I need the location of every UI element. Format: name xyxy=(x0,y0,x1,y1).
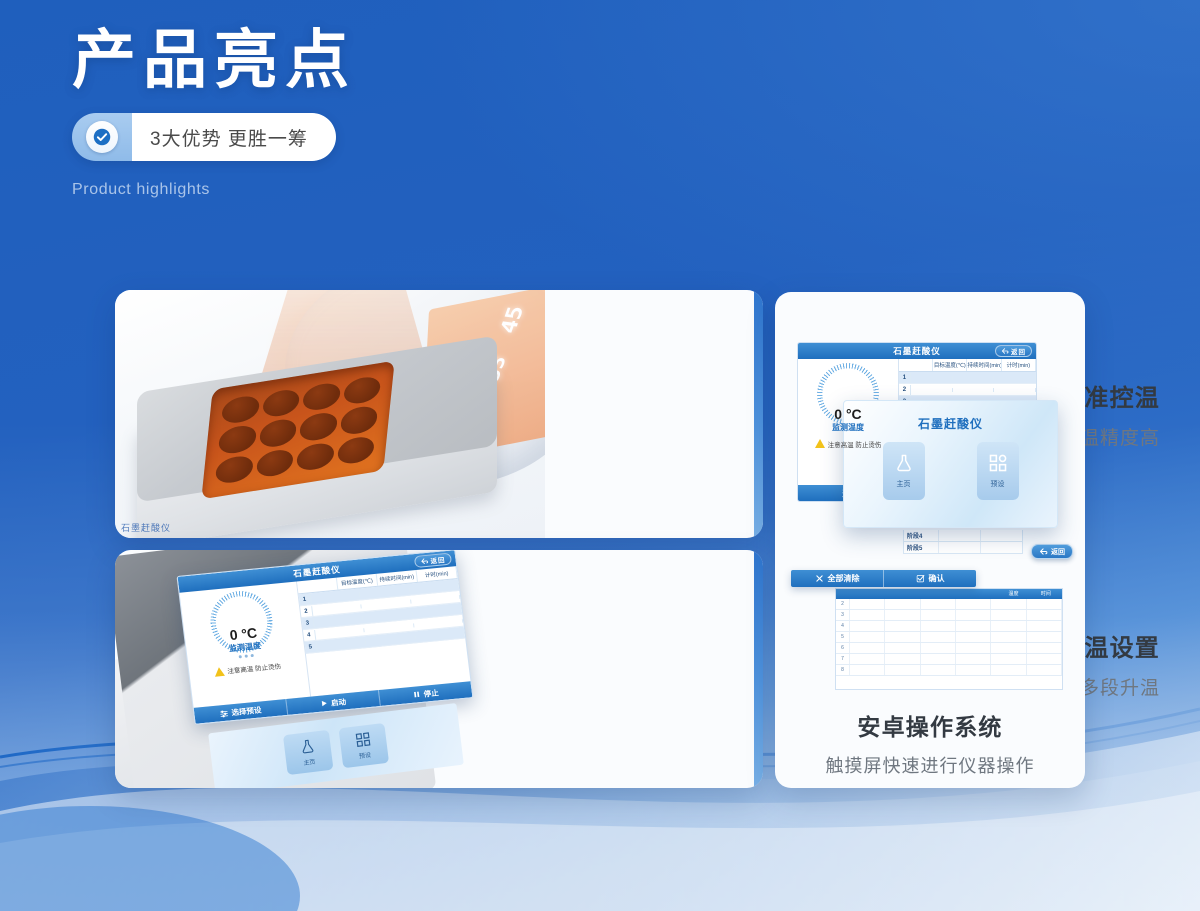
well xyxy=(302,381,341,413)
dialog-tile-home-label: 主页 xyxy=(897,479,911,489)
flask-icon xyxy=(894,453,914,473)
gauge-dots xyxy=(238,654,253,658)
gt-col-blank xyxy=(965,589,997,599)
warning-row: 注意高温 防止烫伤 xyxy=(815,439,882,449)
back-button[interactable]: 返回 xyxy=(414,553,452,568)
row-index: 2 xyxy=(899,385,911,395)
dialog-tile-home[interactable]: 主页 xyxy=(883,442,925,500)
screen-title: 石墨赶酸仪 xyxy=(893,345,941,357)
preset-stage-row[interactable]: 阶段5 xyxy=(903,542,1023,554)
temperature-gauge: 0 °C 监测温度 注意高温 防止烫伤 xyxy=(180,582,310,708)
grid-table-header: 温度 时间 xyxy=(836,589,1062,599)
gauge-value: 0 °C xyxy=(834,406,861,422)
grid-icon xyxy=(354,731,372,749)
warning-triangle-icon xyxy=(214,666,225,676)
preset-tile-home[interactable]: 主页 xyxy=(283,730,334,775)
col-duration: 持续时间(min) xyxy=(967,359,1001,371)
gauge-label: 监测温度 xyxy=(228,640,261,654)
table-row[interactable]: 7 xyxy=(836,654,1062,665)
gt-col-blank xyxy=(901,589,933,599)
warning-text: 注意高温 防止烫伤 xyxy=(828,439,882,449)
well xyxy=(342,375,381,407)
checkbox-icon xyxy=(916,574,925,583)
row-index: 3 xyxy=(836,610,850,620)
segment-table: 目标温度(℃) 持续时间(min) 计时(min) 1 2 3 4 5 xyxy=(296,566,471,697)
caption-title: 安卓操作系统 xyxy=(775,708,1085,742)
col-timer: 计时(min) xyxy=(1002,359,1036,371)
photo-brand-label: 石墨赶酸仪 xyxy=(121,521,171,534)
clear-all-button[interactable]: 全部清除 xyxy=(791,570,884,587)
warning-text: 注意高温 防止烫伤 xyxy=(227,660,282,675)
grid-icon xyxy=(988,453,1008,473)
row-index: 5 xyxy=(304,641,317,652)
preset-back-label: 返回 xyxy=(1051,547,1065,557)
back-label: 返回 xyxy=(1011,346,1026,356)
well xyxy=(255,447,294,479)
well xyxy=(339,405,378,437)
gt-col-time: 时间 xyxy=(1030,589,1062,599)
row-index: 4 xyxy=(836,621,850,631)
well xyxy=(215,454,254,486)
well xyxy=(336,434,375,466)
gauge-label: 监测温度 xyxy=(832,422,864,433)
page-header: 产品亮点 3大优势 更胜一筹 Product highlights xyxy=(72,26,672,199)
well xyxy=(218,424,257,456)
stage-label: 阶段4 xyxy=(904,531,938,540)
dialog-tiles: 主页 预设 xyxy=(883,442,1019,500)
well xyxy=(221,394,260,426)
table-row[interactable]: 3 xyxy=(836,610,1062,621)
back-label: 返回 xyxy=(430,554,446,565)
check-circle-icon xyxy=(86,121,118,153)
row-index: 7 xyxy=(836,654,850,664)
display-value-a: 45 xyxy=(496,305,529,335)
row-index: 1 xyxy=(899,373,911,383)
back-arrow-icon xyxy=(420,557,429,566)
preset-action-bar: 全部清除 确认 xyxy=(791,570,976,587)
table-row[interactable]: 2 xyxy=(899,384,1036,396)
table-row[interactable]: 5 xyxy=(836,632,1062,643)
dialog-title: 石墨赶酸仪 xyxy=(918,415,983,432)
badge-check-wrap xyxy=(72,113,132,161)
card-pid-temperature-control[interactable]: 45 53 石墨赶酸仪 xyxy=(115,290,763,538)
preset-grid-table: 温度 时间 2 3 4 5 6 7 8 xyxy=(835,588,1063,690)
gt-col-temp: 温度 xyxy=(997,589,1029,599)
page-subtitle-en: Product highlights xyxy=(72,181,672,199)
preset-tile-presets[interactable]: 预设 xyxy=(339,723,390,768)
dialog-tile-presets-label: 预设 xyxy=(991,479,1005,489)
badge-label: 3大优势 更胜一筹 xyxy=(132,113,336,161)
table-row[interactable]: 8 xyxy=(836,665,1062,676)
well xyxy=(296,441,335,473)
select-preset-label: 选择预设 xyxy=(231,704,262,718)
table-row[interactable]: 4 xyxy=(836,621,1062,632)
segment-table-header: 目标温度(℃) 持续时间(min) 计时(min) xyxy=(899,359,1036,372)
card-segmented-control[interactable]: 石墨赶酸仪 返回 0 °C 监测温度 注意高温 防止烫伤 xyxy=(115,550,763,788)
table-row[interactable]: 2 xyxy=(836,599,1062,610)
row-index: 2 xyxy=(836,599,850,609)
well xyxy=(261,388,300,420)
gt-col-blank xyxy=(836,589,868,599)
device-screen-main[interactable]: 石墨赶酸仪 返回 0 °C 监测温度 注意高温 防止烫伤 xyxy=(176,550,473,725)
card-accent-bar xyxy=(754,550,763,788)
back-arrow-icon xyxy=(1001,347,1009,355)
row-index: 6 xyxy=(836,643,850,653)
row-index: 1 xyxy=(298,594,311,605)
preset-stage-row[interactable]: 阶段4 xyxy=(903,530,1023,542)
advantages-badge: 3大优势 更胜一筹 xyxy=(72,113,336,161)
well xyxy=(258,417,297,449)
confirm-label: 确认 xyxy=(929,573,945,584)
sliders-icon xyxy=(219,708,229,718)
back-arrow-icon xyxy=(1039,547,1048,556)
preset-stage-rows: 阶段4 阶段5 xyxy=(903,530,1023,554)
table-row[interactable]: 1 xyxy=(899,372,1036,384)
caption-subtitle: 触摸屏快速进行仪器操作 xyxy=(775,752,1085,778)
clear-all-label: 全部清除 xyxy=(828,573,860,584)
preset-back-button[interactable]: 返回 xyxy=(1031,544,1073,559)
flask-icon xyxy=(299,738,317,756)
gt-col-blank xyxy=(933,589,965,599)
dialog-tile-presets[interactable]: 预设 xyxy=(977,442,1019,500)
warning-triangle-icon xyxy=(815,439,825,448)
screen-titlebar: 石墨赶酸仪 返回 xyxy=(798,343,1036,359)
well xyxy=(299,411,338,443)
row-index: 3 xyxy=(301,618,314,629)
screen-title: 石墨赶酸仪 xyxy=(293,563,342,579)
warning-row: 注意高温 防止烫伤 xyxy=(214,660,282,676)
pause-icon xyxy=(412,690,421,699)
preset-tile-home-label: 主页 xyxy=(303,757,316,767)
caption-android: 安卓操作系统 触摸屏快速进行仪器操作 xyxy=(775,708,1085,778)
col-target-temp: 目标温度(℃) xyxy=(933,359,967,371)
start-label: 启动 xyxy=(330,696,346,708)
gt-col-blank xyxy=(868,589,900,599)
row-index: 8 xyxy=(836,665,850,675)
preset-tile-presets-label: 预设 xyxy=(358,750,371,760)
row-index: 2 xyxy=(300,606,313,617)
stop-label: 停止 xyxy=(423,687,439,699)
col-index xyxy=(899,359,933,371)
row-index: 4 xyxy=(303,629,316,640)
back-button[interactable]: 返回 xyxy=(995,345,1032,357)
row-index: 5 xyxy=(836,632,850,642)
card-accent-bar xyxy=(754,290,763,538)
product-photo-heating-block: 45 53 石墨赶酸仪 xyxy=(115,290,545,538)
page-title: 产品亮点 xyxy=(72,26,672,95)
play-icon xyxy=(320,699,329,708)
stage-label: 阶段5 xyxy=(904,543,938,552)
home-dialog[interactable]: 石墨赶酸仪 主页 预设 xyxy=(843,400,1058,528)
confirm-button[interactable]: 确认 xyxy=(884,570,976,587)
table-row[interactable]: 6 xyxy=(836,643,1062,654)
close-x-icon xyxy=(815,574,824,583)
